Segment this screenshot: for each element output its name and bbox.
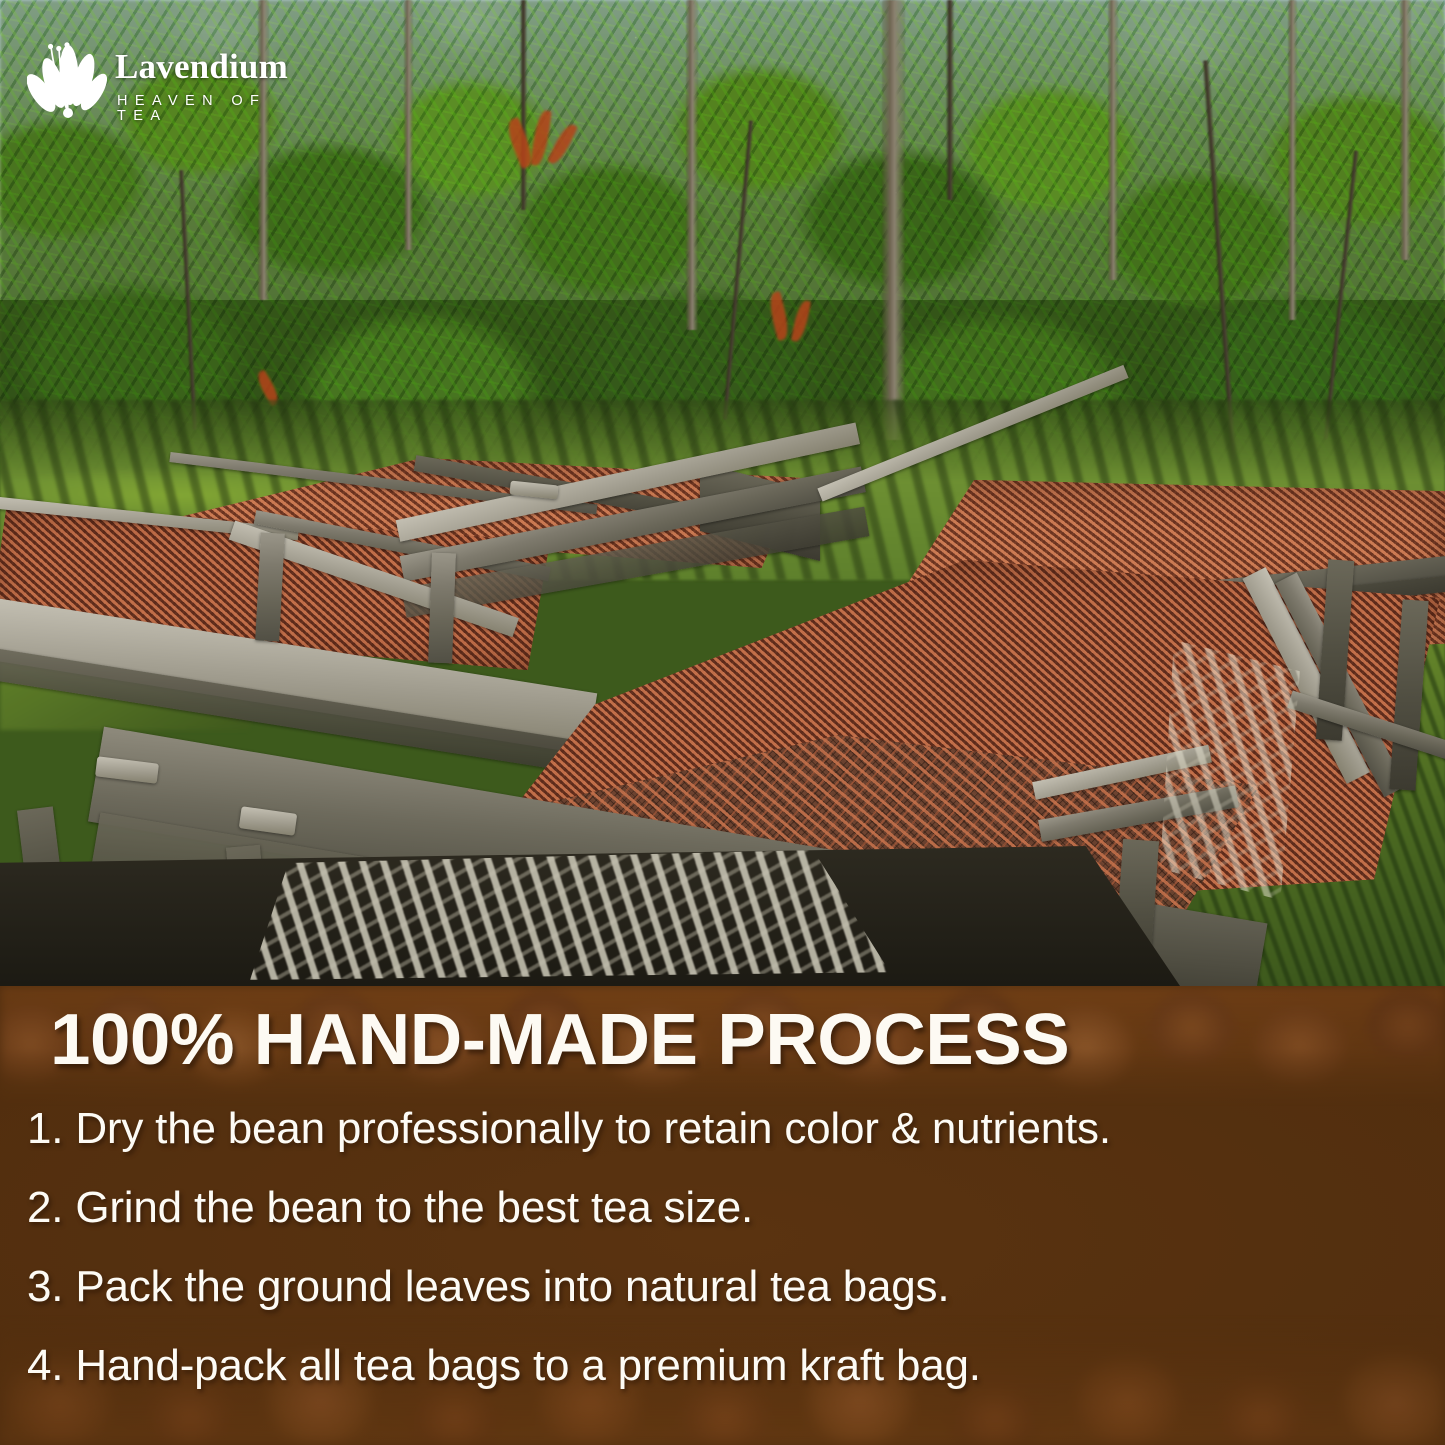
list-item: 1. Dry the bean professionally to retain… (27, 1107, 1427, 1151)
plantation-photo: Lavendium HEAVEN OF TEA (0, 0, 1445, 986)
walkway-post (428, 553, 456, 664)
drying-beds (0, 0, 1445, 986)
product-infographic: Lavendium HEAVEN OF TEA 100% HAND-MADE P… (0, 0, 1445, 1445)
tray-rail (817, 365, 1128, 502)
lavender-fan-icon (27, 33, 107, 121)
page-title: 100% HAND-MADE PROCESS (50, 1004, 1408, 1076)
process-steps-list: 1. Dry the bean professionally to retain… (27, 1107, 1427, 1388)
dappled-light (250, 850, 890, 980)
brand-logo[interactable]: Lavendium HEAVEN OF TEA (27, 33, 317, 121)
brand-tagline: HEAVEN OF TEA (117, 94, 317, 123)
list-item: 2. Grind the bean to the best tea size. (27, 1186, 1427, 1230)
brand-name: Lavendium (115, 49, 288, 84)
list-item: 3. Pack the ground leaves into natural t… (27, 1265, 1427, 1309)
dappled-light (1160, 640, 1300, 900)
list-item: 4. Hand-pack all tea bags to a premium k… (27, 1344, 1427, 1388)
